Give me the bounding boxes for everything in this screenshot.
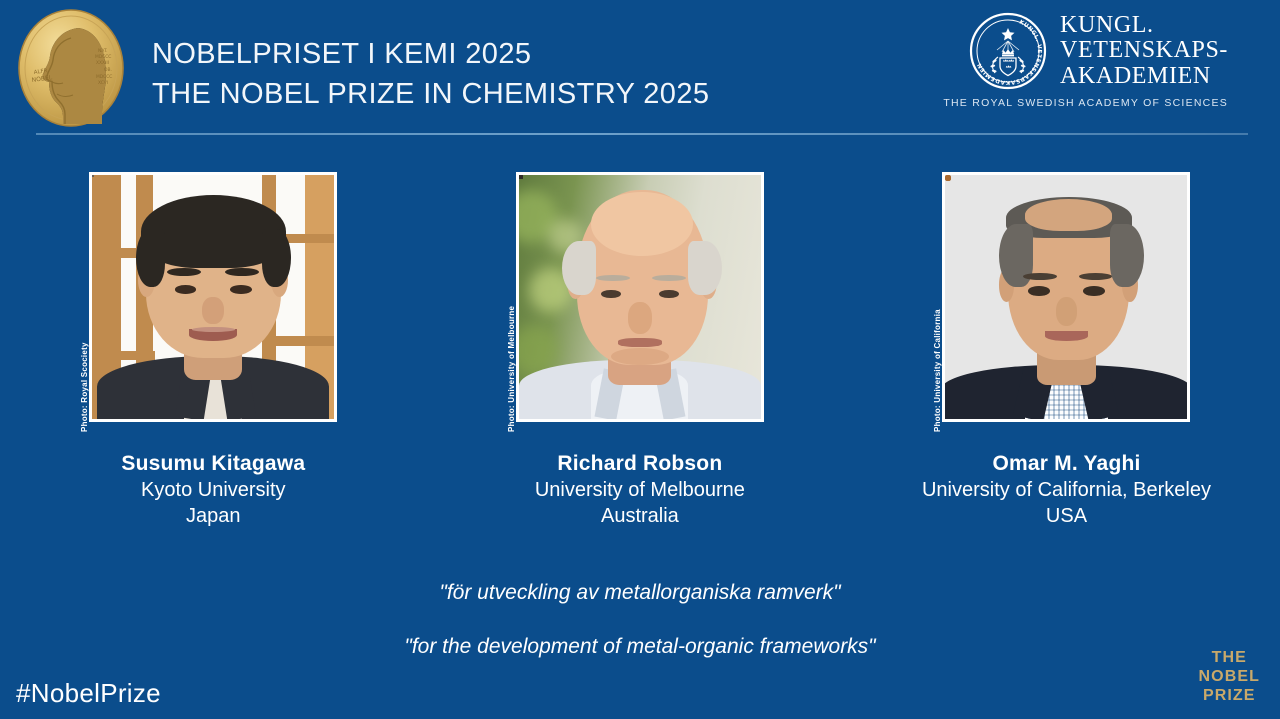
photo-credit: Photo: Royal Scociety [80,342,89,432]
slide-background: ALFR. NOBEL NAT. MDCCC XXXIII OB. MDCCC … [0,0,1280,719]
laureate-country: USA [922,503,1211,529]
nobel-prize-logo-line-2: NOBEL [1199,667,1261,686]
svg-text:XXXIII: XXXIII [96,60,109,66]
nobel-prize-logo-line-3: PRIZE [1199,686,1261,705]
laureate-country: Japan [121,503,305,529]
laureate-country: Australia [535,503,745,529]
academy-line-2: VETENSKAPS- [1060,38,1228,64]
academy-logo: KUNGL. VETENSKAPSAKADEMIEN [943,12,1228,109]
citation-block: "för utveckling av metallorganiska ramve… [0,578,1280,662]
citation-english: "for the development of metal-organic fr… [0,632,1280,662]
laureates-row: Photo: Royal Scociety [0,172,1280,529]
academy-line-3: AKADEMIEN [1060,64,1228,90]
portrait-richard-robson [516,172,764,422]
citation-swedish: "för utveckling av metallorganiska ramve… [0,578,1280,608]
header-divider [36,133,1248,135]
laureate-info: Susumu Kitagawa Kyoto University Japan [121,450,305,529]
header-titles: NOBELPRISET I KEMI 2025 THE NOBEL PRIZE … [152,34,709,114]
portrait-omar-yaghi [942,172,1190,422]
nobel-prize-logo: THE NOBEL PRIZE [1199,648,1261,705]
svg-text:MDCCC: MDCCC [95,54,111,60]
laureate-affiliation: University of Melbourne [535,477,745,503]
svg-text:NAT.: NAT. [98,48,108,54]
laureate-info: Omar M. Yaghi University of California, … [922,450,1211,529]
laureate-info: Richard Robson University of Melbourne A… [535,450,745,529]
nobel-prize-logo-line-1: THE [1199,648,1261,667]
academy-subtitle: THE ROYAL SWEDISH ACADEMY OF SCIENCES [943,97,1228,109]
laureate-name: Susumu Kitagawa [121,450,305,477]
royal-academy-seal-icon: KUNGL. VETENSKAPSAKADEMIEN [969,12,1047,90]
header: ALFR. NOBEL NAT. MDCCC XXXIII OB. MDCCC … [0,0,1280,140]
svg-text:XCVI: XCVI [98,80,108,86]
title-english: THE NOBEL PRIZE IN CHEMISTRY 2025 [152,74,709,114]
hashtag-nobelprize: #NobelPrize [16,678,161,709]
photo-credit: Photo: University of California [933,309,942,432]
laureate-name: Omar M. Yaghi [922,450,1211,477]
academy-line-1: KUNGL. [1060,13,1228,39]
svg-text:MDCCC: MDCCC [96,74,112,80]
title-swedish: NOBELPRISET I KEMI 2025 [152,34,709,74]
laureate-name: Richard Robson [535,450,745,477]
laureate-card: Photo: University of California [853,172,1280,529]
laureate-affiliation: University of California, Berkeley [922,477,1211,503]
laureate-card: Photo: University of Melbourne [427,172,854,529]
svg-text:OB.: OB. [104,67,112,73]
photo-credit: Photo: University of Melbourne [507,306,516,432]
laureate-card: Photo: Royal Scociety [0,172,427,529]
nobel-medal-icon: ALFR. NOBEL NAT. MDCCC XXXIII OB. MDCCC … [16,8,126,128]
laureate-affiliation: Kyoto University [121,477,305,503]
portrait-susumu-kitagawa [89,172,337,422]
